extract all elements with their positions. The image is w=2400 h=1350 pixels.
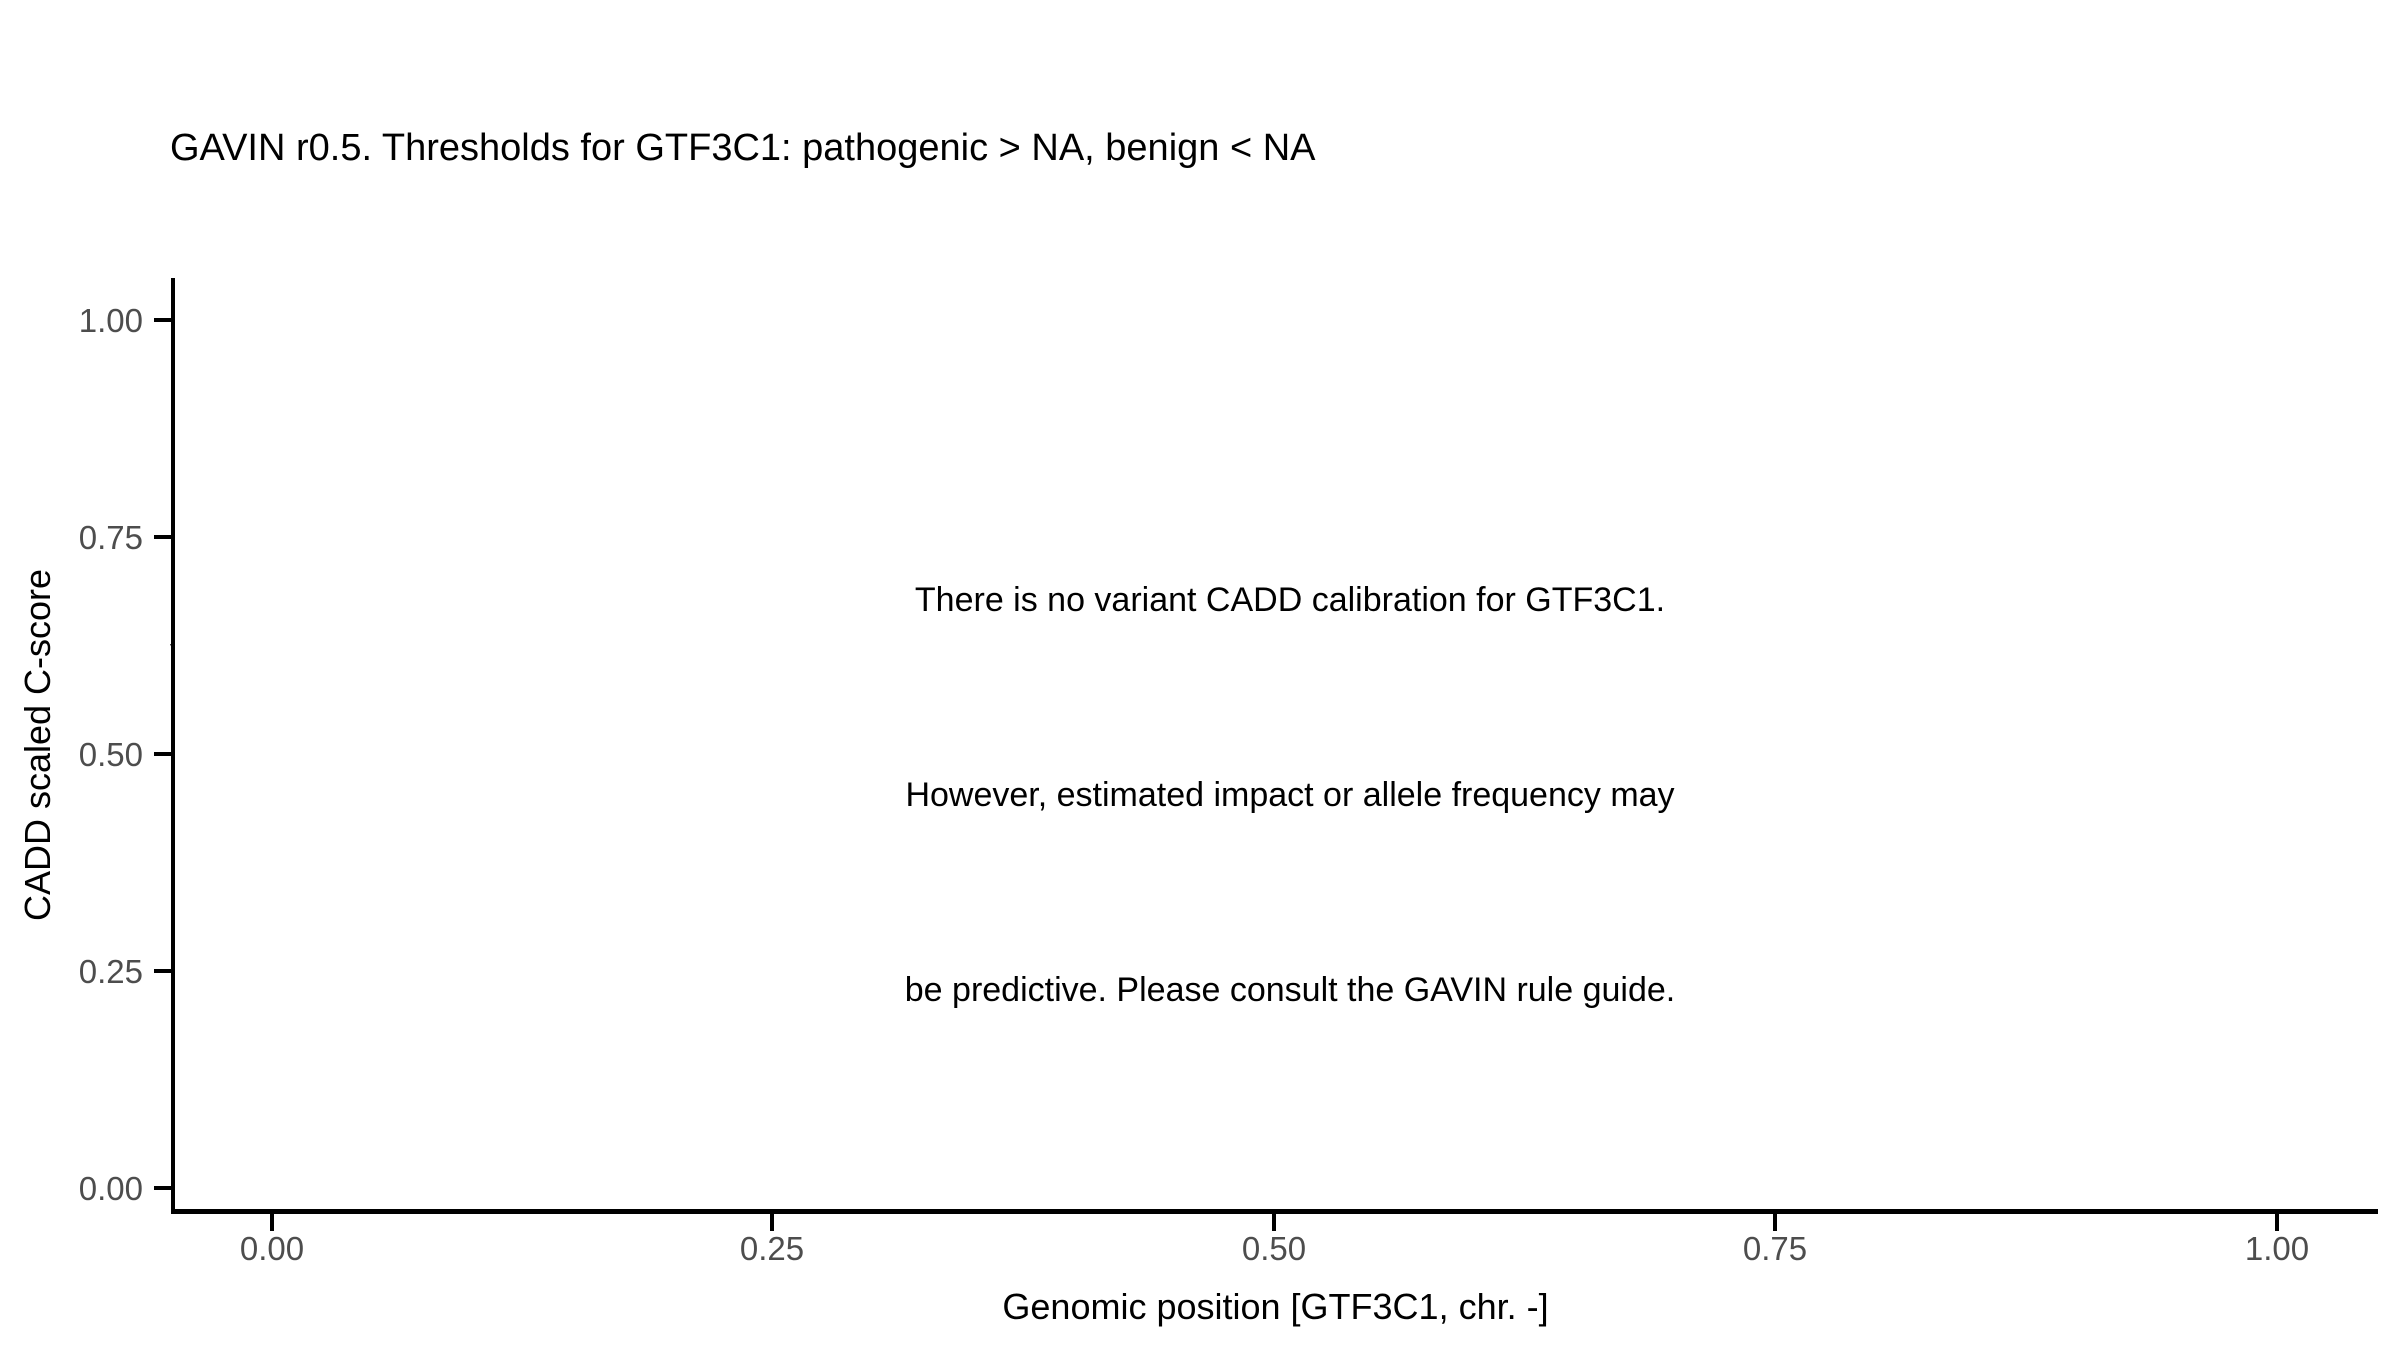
y-axis-title: CADD scaled C-score: [16, 278, 60, 1212]
annotation-line-3: be predictive. Please consult the GAVIN …: [690, 958, 1890, 1023]
chart-canvas: GAVIN r0.5. Thresholds for GTF3C1: patho…: [0, 0, 2400, 1350]
annotation-line-1: There is no variant CADD calibration for…: [690, 568, 1890, 633]
x-axis-tick-label: 0.50: [1242, 1232, 1306, 1265]
x-axis-tick-label: 0.00: [240, 1232, 304, 1265]
x-axis-tick-label: 0.75: [1743, 1232, 1807, 1265]
y-axis-tick: [154, 969, 171, 973]
y-axis-tick: [154, 752, 171, 756]
y-axis-tick: [154, 1186, 171, 1190]
y-axis-tick: [154, 535, 171, 539]
x-axis-tick-label: 0.25: [740, 1232, 804, 1265]
x-axis-tick: [270, 1214, 274, 1231]
no-calibration-annotation: There is no variant CADD calibration for…: [690, 438, 1890, 1153]
x-axis-tick: [1773, 1214, 1777, 1231]
chart-title-line-1: GAVIN r0.5. Thresholds for GTF3C1: patho…: [170, 120, 2070, 176]
y-axis-tick: [154, 318, 171, 322]
x-axis-title: Genomic position [GTF3C1, chr. -]: [173, 1285, 2378, 1329]
x-axis-tick-label: 1.00: [2245, 1232, 2309, 1265]
x-axis-tick: [770, 1214, 774, 1231]
x-axis-tick: [1272, 1214, 1276, 1231]
y-axis-line: [171, 278, 175, 1214]
x-axis-tick: [2275, 1214, 2279, 1231]
annotation-line-2: However, estimated impact or allele freq…: [690, 763, 1890, 828]
